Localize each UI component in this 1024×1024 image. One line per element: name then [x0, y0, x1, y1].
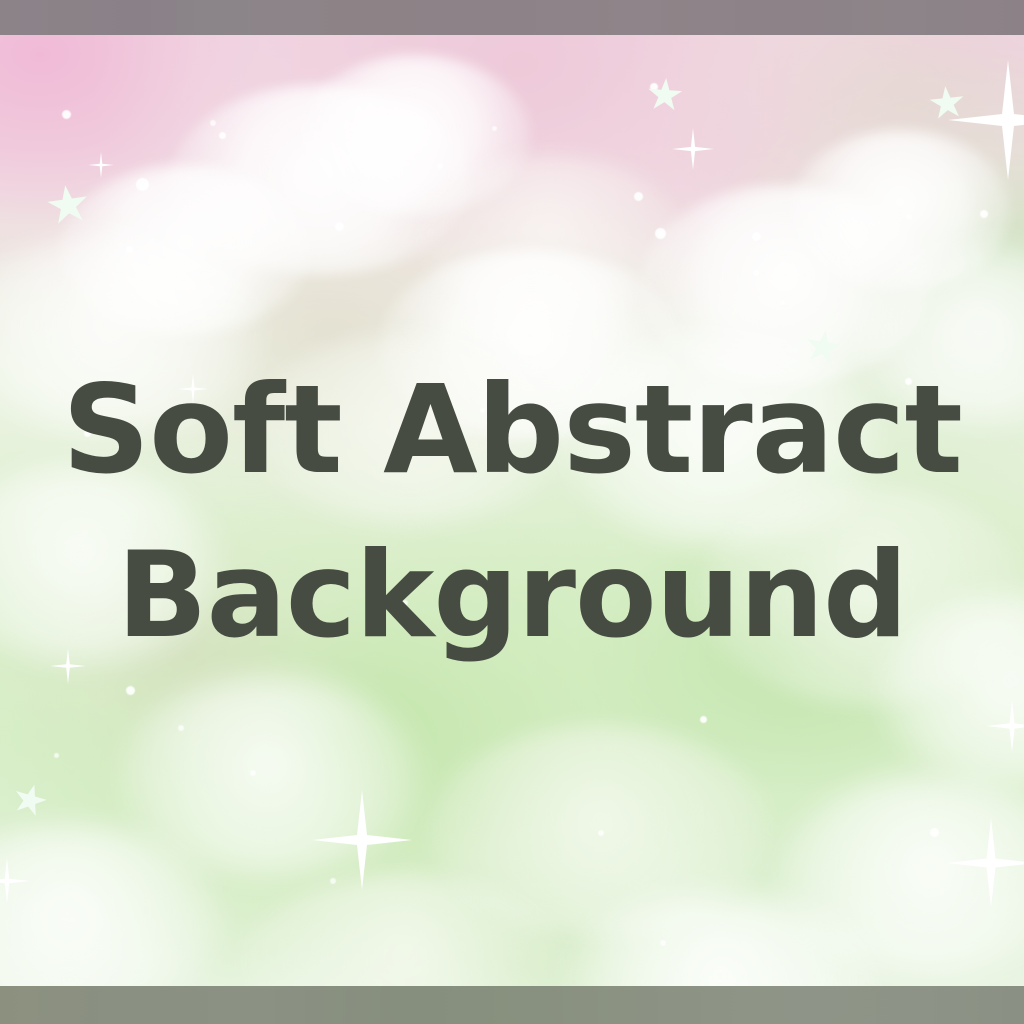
- bokeh-dot: [906, 214, 912, 220]
- star-lower-left-icon: [10, 780, 50, 820]
- bokeh-dot: [492, 126, 497, 131]
- bokeh-dot: [905, 378, 912, 385]
- sparkle-lower-left-icon: [50, 648, 86, 684]
- sparkle-layer: [0, 35, 1024, 986]
- star-mid-right-icon: [803, 327, 842, 366]
- bokeh-dot: [634, 192, 643, 201]
- bokeh-dot: [980, 210, 988, 218]
- sparkle-top-center-icon: [672, 128, 714, 170]
- bokeh-dot: [335, 222, 344, 231]
- star-top-left-icon: [45, 182, 90, 227]
- bokeh-dot: [700, 402, 706, 408]
- bokeh-dot: [700, 716, 707, 723]
- bokeh-dot: [178, 725, 184, 731]
- star-top-right-icon: [928, 84, 965, 121]
- sparkle-top-left-icon: [88, 152, 114, 178]
- bokeh-dot: [480, 408, 485, 413]
- bokeh-dot: [54, 753, 59, 758]
- sparkle-bottom-right-icon: [946, 818, 1024, 908]
- bokeh-dot: [402, 600, 408, 606]
- bokeh-dot: [210, 120, 216, 126]
- bokeh-dot: [655, 228, 666, 239]
- bokeh-dot: [660, 940, 666, 946]
- sparkle-mid-left-icon: [178, 374, 208, 404]
- bokeh-dot: [437, 163, 443, 169]
- bokeh-dot: [62, 110, 71, 119]
- bokeh-dot: [752, 232, 761, 241]
- sparkle-bottom-center-icon: [312, 790, 412, 890]
- bokeh-dot: [753, 270, 759, 276]
- bokeh-dot: [219, 132, 226, 139]
- sparkle-bottom-left-icon: [0, 858, 30, 904]
- bokeh-dot: [930, 828, 939, 837]
- bokeh-dot: [136, 178, 149, 191]
- bokeh-dot: [780, 300, 785, 305]
- bokeh-dot: [126, 246, 133, 253]
- image-canvas: Soft Abstract Background: [0, 0, 1024, 1024]
- sparkle-right-edge-icon: [986, 700, 1024, 752]
- abstract-background-artwork: [0, 35, 1024, 986]
- bokeh-dot: [250, 770, 256, 776]
- bokeh-dot: [126, 686, 135, 695]
- bokeh-dot: [330, 878, 336, 884]
- letterbox-bar-top: [0, 0, 1024, 35]
- bokeh-dot: [598, 830, 604, 836]
- bokeh-dot: [305, 398, 311, 404]
- sparkle-top-right-large-icon: [948, 60, 1024, 180]
- letterbox-bar-bottom: [0, 986, 1024, 1024]
- bokeh-dot: [84, 430, 91, 437]
